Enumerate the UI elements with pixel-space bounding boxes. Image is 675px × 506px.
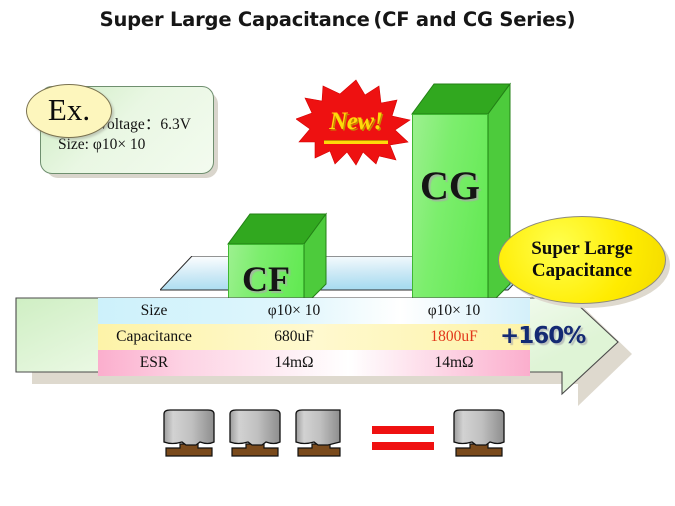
- capacitance-gain-badge: +160%: [500, 323, 585, 349]
- example-badge-label: Ex.: [27, 85, 111, 137]
- callout-line-2: Capacitance: [532, 260, 632, 282]
- table-row: Size φ10× 10 φ10× 10: [98, 298, 530, 324]
- capacitor-icon: [454, 410, 504, 456]
- bar-cg-label: CG: [412, 162, 488, 209]
- example-size: Size: φ10× 10: [58, 136, 145, 154]
- example-badge: Ex.: [26, 84, 112, 138]
- super-large-capacitance-callout: Super Large Capacitance: [498, 216, 666, 304]
- capacitor-icon: [164, 410, 214, 456]
- spec-table: Size φ10× 10 φ10× 10 Capacitance 680uF 1…: [98, 298, 530, 376]
- row-cg-value: φ10× 10: [378, 302, 530, 320]
- bar-cf: CF: [228, 214, 304, 286]
- slide-canvas: Super Large Capacitance (CF and CG Serie…: [0, 0, 675, 506]
- capacitor-comparison: [150, 404, 550, 474]
- row-label: Size: [98, 302, 210, 320]
- row-label: Capacitance: [98, 328, 210, 346]
- capacitor-icon: [230, 410, 280, 456]
- callout-line-1: Super Large: [531, 238, 633, 260]
- new-badge: New!: [296, 78, 416, 166]
- row-cf-value: 14mΩ: [210, 354, 378, 372]
- new-badge-label: New!: [296, 108, 416, 136]
- page-title: Super Large Capacitance (CF and CG Serie…: [0, 8, 675, 31]
- table-row: Capacitance 680uF 1800uF: [98, 324, 530, 350]
- bar-cg: CG: [412, 84, 488, 286]
- row-cg-value: 14mΩ: [378, 354, 530, 372]
- new-badge-underline: [324, 140, 388, 144]
- row-cf-value: φ10× 10: [210, 302, 378, 320]
- row-label: ESR: [98, 354, 210, 372]
- row-cf-value: 680uF: [210, 328, 378, 346]
- equals-sign-icon: [372, 426, 434, 450]
- capacitor-icon: [296, 410, 340, 456]
- table-row: ESR 14mΩ 14mΩ: [98, 350, 530, 376]
